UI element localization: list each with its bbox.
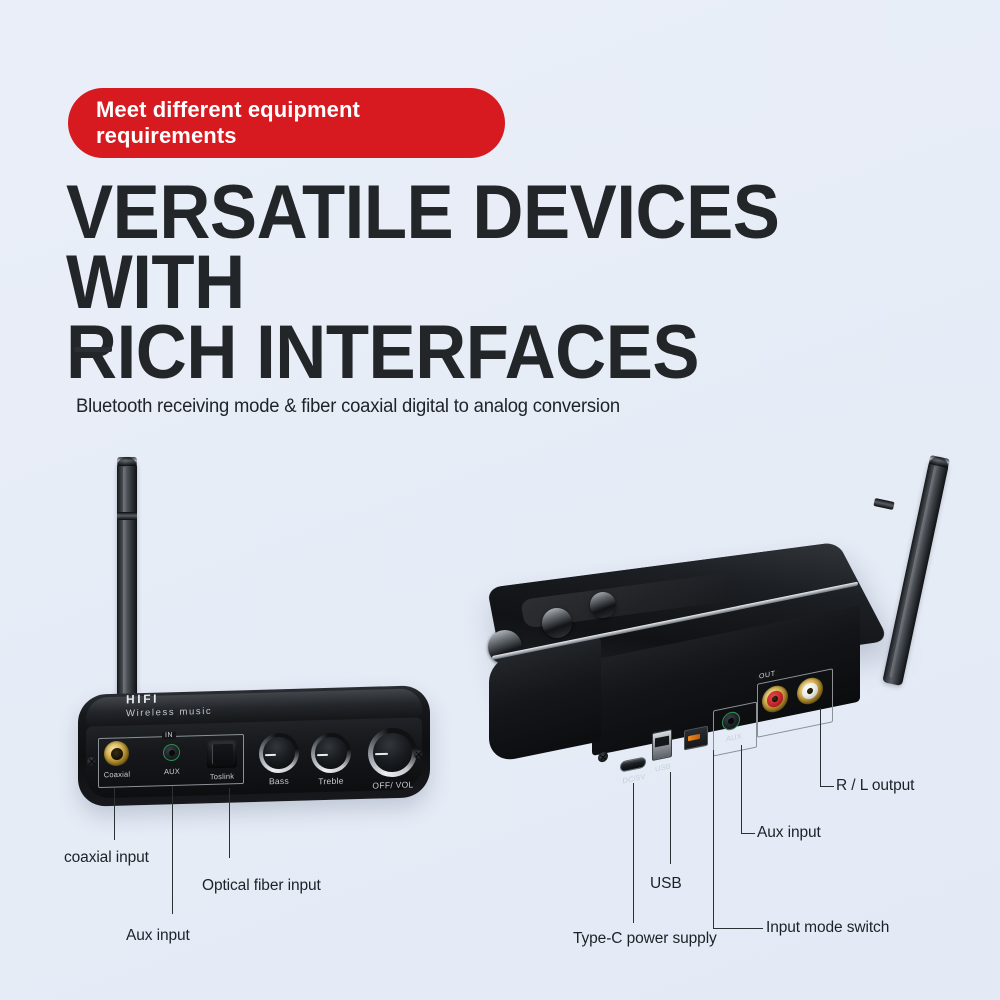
page-subtitle: Bluetooth receiving mode & fiber coaxial… [76,396,620,418]
right-antenna-joint [873,498,894,510]
leader-coaxial-input [114,788,115,840]
banner-text: Meet different equipment requirements [68,97,505,149]
right-device-screw [598,751,608,763]
callout-aux-input-left: Aux input [126,927,190,945]
leader-input-mode-switch-vertical [713,750,714,928]
callout-optical-fiber-input: Optical fiber input [202,877,321,895]
headline-rule [74,347,112,352]
callout-coaxial-input: coaxial input [64,849,149,867]
toslink-port-label: Toslink [200,771,244,781]
right-device-knob-3[interactable] [590,592,616,618]
leader-right-aux-horizontal [741,833,755,834]
callout-rl-output: R / L output [836,777,914,795]
leader-rl-output-vertical [820,708,821,786]
leader-type-c-power [633,783,634,923]
left-aux-port-label: AUX [153,766,191,776]
usb-a-port-label: USB [645,759,681,775]
volume-knob-label: OFF/ VOL [364,779,422,791]
right-device-knob-2[interactable] [542,608,572,638]
leader-optical-fiber-input [229,788,230,858]
left-antenna-joint [117,512,137,520]
treble-knob-label: Treble [311,775,351,786]
toslink-shutter [212,744,233,765]
page-headline: VERSATILE DEVICES WITH RICH INTERFACES [66,178,884,388]
coaxial-port-label: Coaxial [96,769,138,779]
aux-jack-hole [169,749,175,755]
left-brand-hifi: HIFI [126,692,159,707]
left-input-group-label: IN [162,732,176,739]
leader-right-aux-vertical [741,745,742,833]
leader-rl-output-horizontal [820,786,834,787]
leader-input-mode-switch-horizontal [713,928,763,929]
bass-knob-indicator [265,754,276,756]
banner-pill: Meet different equipment requirements [68,88,505,158]
right-antenna [882,455,950,686]
leader-usb [670,772,671,864]
bass-knob-label: Bass [259,775,299,786]
callout-input-mode-switch: Input mode switch [766,919,889,937]
coaxial-jack-hole [111,747,123,759]
toslink-optical-port[interactable] [207,740,237,769]
usb-c-power-port[interactable] [620,756,646,772]
leader-aux-input [172,786,173,914]
callout-usb: USB [650,875,682,893]
right-aux-jack-hole [728,717,734,725]
callout-aux-input-right: Aux input [757,824,821,842]
left-antenna [117,457,137,707]
callout-type-c-power: Type-C power supply [573,930,717,948]
treble-knob-indicator [317,754,328,756]
